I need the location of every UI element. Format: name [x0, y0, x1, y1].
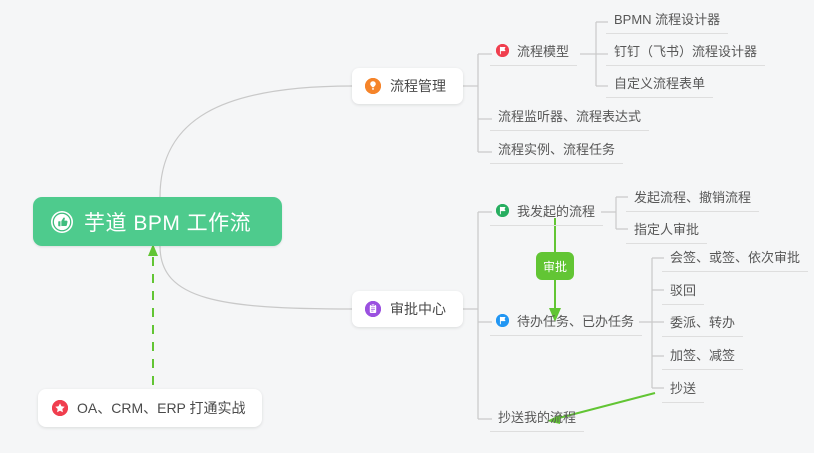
- node-label-my-initiated: 我发起的流程: [517, 201, 595, 220]
- node-process-model[interactable]: 流程模型: [490, 38, 577, 66]
- clipboard-icon: [365, 301, 381, 317]
- flag-icon: [496, 204, 509, 217]
- node-countersign[interactable]: 会签、或签、依次审批: [662, 244, 808, 272]
- lightbulb-icon: [365, 78, 381, 94]
- node-reject[interactable]: 驳回: [662, 277, 704, 305]
- node-cc-to-me[interactable]: 抄送我的流程: [490, 404, 584, 432]
- node-label-todo-done-tasks: 待办任务、已办任务: [517, 311, 634, 330]
- node-process-instance[interactable]: 流程实例、流程任务: [490, 136, 623, 164]
- branch-label-process-management: 流程管理: [390, 76, 446, 96]
- wire-root-to-process-management: [160, 86, 352, 197]
- node-add-remove-sign[interactable]: 加签、减签: [662, 342, 743, 370]
- node-my-initiated[interactable]: 我发起的流程: [490, 198, 603, 226]
- footer-card-label: OA、CRM、ERP 打通实战: [77, 398, 246, 418]
- root-node[interactable]: 芋道 BPM 工作流: [33, 197, 282, 246]
- node-delegate-transfer[interactable]: 委派、转办: [662, 309, 743, 337]
- approval-badge: 审批: [536, 252, 574, 280]
- node-todo-done-tasks[interactable]: 待办任务、已办任务: [490, 308, 642, 336]
- flag-icon: [496, 314, 509, 327]
- branch-approval-center[interactable]: 审批中心: [352, 291, 463, 327]
- node-process-listener[interactable]: 流程监听器、流程表达式: [490, 103, 649, 131]
- node-start-cancel-process[interactable]: 发起流程、撤销流程: [626, 184, 759, 212]
- node-assign-approver[interactable]: 指定人审批: [626, 216, 707, 244]
- node-label-process-model: 流程模型: [517, 41, 569, 60]
- node-dingtalk-designer[interactable]: 钉钉（飞书）流程设计器: [606, 38, 765, 66]
- branch-label-approval-center: 审批中心: [390, 299, 446, 319]
- root-label: 芋道 BPM 工作流: [84, 207, 251, 237]
- wire-root-to-approval-center: [160, 246, 352, 309]
- star-icon: [52, 400, 68, 416]
- thumbs-up-icon: [51, 211, 73, 233]
- node-custom-form[interactable]: 自定义流程表单: [606, 70, 713, 98]
- node-bpmn-designer[interactable]: BPMN 流程设计器: [606, 6, 728, 34]
- flag-icon: [496, 44, 509, 57]
- node-cc[interactable]: 抄送: [662, 375, 704, 403]
- footer-card[interactable]: OA、CRM、ERP 打通实战: [38, 389, 262, 427]
- mindmap-canvas: 芋道 BPM 工作流 流程管理 流程模型 流程监听器、流程表达式 流程实例、流程…: [0, 0, 814, 453]
- branch-process-management[interactable]: 流程管理: [352, 68, 463, 104]
